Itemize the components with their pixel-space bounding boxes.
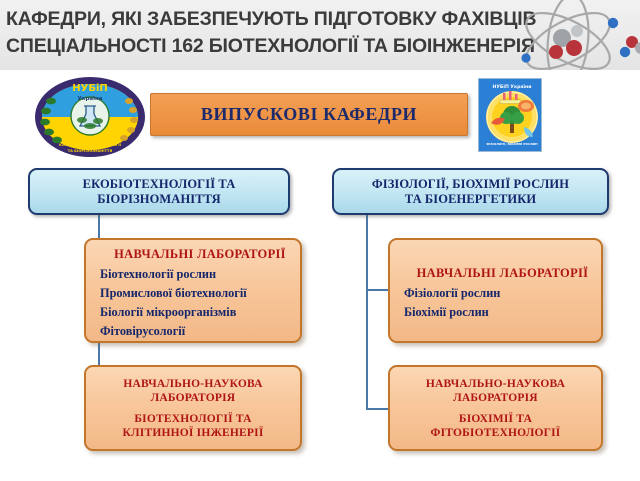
department-label-line2: ТА БІОЕНЕРГЕТИКИ bbox=[405, 192, 537, 207]
svg-text:КАФЕДРА ЕКОБІОТЕХНОЛОГІЇ: КАФЕДРА ЕКОБІОТЕХНОЛОГІЇ bbox=[59, 142, 122, 147]
department-label-line2: БІОРІЗНОМАНІТТЯ bbox=[97, 192, 221, 207]
research-lab-title-line1: НАВЧАЛЬНО-НАУКОВА bbox=[426, 377, 565, 391]
root-node-graduating-departments[interactable]: ВИПУСКОВІ КАФЕДРИ bbox=[150, 93, 468, 136]
svg-text:НУБіП України: НУБіП України bbox=[493, 84, 532, 90]
atom-icon bbox=[496, 0, 640, 70]
research-lab-name-line1: БІОТЕХНОЛОГІЇ ТА bbox=[134, 412, 251, 426]
teaching-labs-heading: НАВЧАЛЬНІ ЛАБОРАТОРІЇ bbox=[114, 247, 286, 262]
connector-right-vertical bbox=[366, 215, 368, 410]
research-lab-name-line2: ФІТОБІОТЕХНОЛОГІЇ bbox=[431, 426, 561, 440]
list-item: Фітовірусології bbox=[100, 322, 185, 341]
department-node-plant-physiology[interactable]: ФІЗІОЛОГІЇ, БІОХІМІЇ РОСЛИН ТА БІОЕНЕРГЕ… bbox=[332, 168, 609, 215]
research-lab-box-biotechnology-cell-engineering[interactable]: НАВЧАЛЬНО-НАУКОВА ЛАБОРАТОРІЯ БІОТЕХНОЛО… bbox=[84, 365, 302, 451]
list-item: Біотехнології рослин bbox=[100, 265, 216, 284]
logo-nubip-ekobiotechnology: НУБіП Україна КАФЕДРА ЕКОБІОТЕХНОЛОГІЇ Т… bbox=[34, 76, 146, 158]
svg-text:Україна: Україна bbox=[77, 96, 102, 102]
teaching-labs-heading: НАВЧАЛЬНІ ЛАБОРАТОРІЇ bbox=[417, 266, 589, 281]
svg-text:ФІЗІОЛОГІЇ, БІОХІМІЇ РОСЛИН: ФІЗІОЛОГІЇ, БІОХІМІЇ РОСЛИН bbox=[486, 141, 538, 146]
logo-nubip-plant-physiology: НУБіП України ФІЗІОЛОГІЇ, БІОХІМІЇ РОСЛИ… bbox=[478, 78, 542, 152]
research-lab-name-line1: БІОХІМІЇ ТА bbox=[459, 412, 532, 426]
research-lab-name-line2: КЛІТИННОЇ ІНЖЕНЕРІЇ bbox=[122, 426, 263, 440]
slide-title-bar: КАФЕДРИ, ЯКІ ЗАБЕЗПЕЧУЮТЬ ПІДГОТОВКУ ФАХ… bbox=[0, 0, 640, 70]
svg-text:НУБіП: НУБіП bbox=[72, 83, 108, 94]
research-lab-title-line2: ЛАБОРАТОРІЯ bbox=[453, 391, 538, 405]
department-label-line1: ЕКОБІОТЕХНОЛОГІЇ ТА bbox=[83, 177, 236, 192]
list-item: Фізіології рослин bbox=[404, 284, 500, 303]
research-lab-title-line1: НАВЧАЛЬНО-НАУКОВА bbox=[123, 377, 262, 391]
list-item: Промислової біотехнології bbox=[100, 284, 247, 303]
research-lab-title-line2: ЛАБОРАТОРІЯ bbox=[151, 391, 236, 405]
root-node-label: ВИПУСКОВІ КАФЕДРИ bbox=[201, 104, 417, 125]
department-label-line1: ФІЗІОЛОГІЇ, БІОХІМІЇ РОСЛИН bbox=[372, 177, 569, 192]
list-item: Біології мікроорганізмів bbox=[100, 303, 236, 322]
teaching-labs-box-ekobiotechnology[interactable]: НАВЧАЛЬНІ ЛАБОРАТОРІЇ Біотехнології росл… bbox=[84, 238, 302, 343]
teaching-labs-box-plant-physiology[interactable]: НАВЧАЛЬНІ ЛАБОРАТОРІЇ Фізіології рослин … bbox=[388, 238, 603, 343]
svg-text:ТА БІОРІЗНОМАНІТТЯ: ТА БІОРІЗНОМАНІТТЯ bbox=[68, 149, 113, 153]
list-item: Біохімії рослин bbox=[404, 303, 489, 322]
research-lab-box-biochemistry-phytobiotechnology[interactable]: НАВЧАЛЬНО-НАУКОВА ЛАБОРАТОРІЯ БІОХІМІЇ Т… bbox=[388, 365, 603, 451]
department-node-ekobiotechnology[interactable]: ЕКОБІОТЕХНОЛОГІЇ ТА БІОРІЗНОМАНІТТЯ bbox=[28, 168, 290, 215]
